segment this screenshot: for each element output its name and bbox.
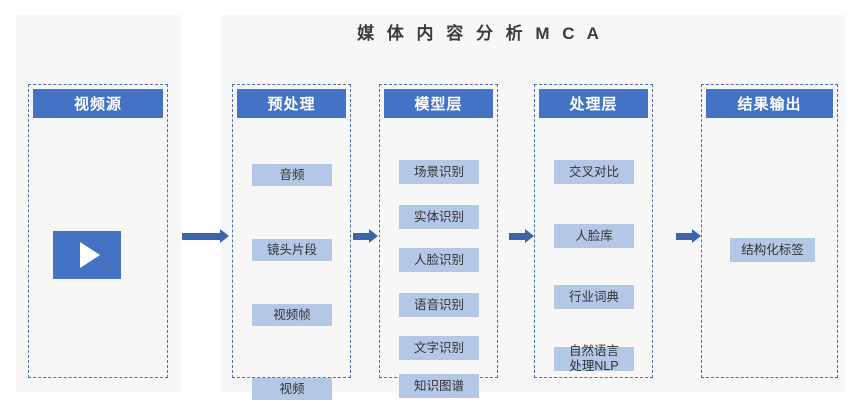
- play-button-icon[interactable]: [53, 231, 121, 279]
- stage-process-layer[interactable]: 处理层 交叉对比 人脸库 行业词典 自然语言 处理NLP: [534, 84, 653, 378]
- arrow-shaft: [509, 233, 525, 240]
- arrow-process-to-output: [676, 229, 701, 243]
- stage-body-process-layer: 交叉对比 人脸库 行业词典 自然语言 处理NLP: [535, 119, 652, 377]
- arrow-head: [369, 229, 378, 243]
- list-item[interactable]: 视频: [252, 378, 332, 400]
- page-title: 媒 体 内 容 分 析 M C A: [330, 19, 630, 44]
- stage-header-video-source: 视频源: [33, 89, 163, 118]
- list-item[interactable]: 结构化标签: [730, 238, 815, 262]
- list-item[interactable]: 语音识别: [399, 293, 479, 317]
- arrow-source-to-preprocess: [182, 229, 229, 243]
- stage-body-model-layer: 场景识别 实体识别 人脸识别 语音识别 文字识别 知识图谱: [380, 119, 497, 377]
- list-item[interactable]: 文字识别: [399, 336, 479, 360]
- stage-body-result-output: 结构化标签: [702, 119, 837, 377]
- list-item[interactable]: 自然语言 处理NLP: [554, 347, 634, 371]
- list-item[interactable]: 场景识别: [399, 160, 479, 184]
- list-item[interactable]: 实体识别: [399, 205, 479, 229]
- list-item[interactable]: 行业词典: [554, 285, 634, 309]
- arrow-preprocess-to-model: [353, 229, 378, 243]
- stage-body-video-source: [29, 119, 167, 377]
- arrow-head: [220, 229, 229, 243]
- arrow-shaft: [353, 233, 369, 240]
- stage-header-process-layer: 处理层: [539, 89, 648, 118]
- arrow-shaft: [182, 233, 220, 240]
- arrow-shaft: [676, 233, 692, 240]
- list-item[interactable]: 人脸识别: [399, 248, 479, 272]
- arrow-head: [692, 229, 701, 243]
- stage-header-preprocess: 预处理: [237, 89, 346, 118]
- stage-header-model-layer: 模型层: [384, 89, 493, 118]
- stage-body-preprocess: 音频 镜头片段 视频帧 视频: [233, 119, 350, 377]
- stage-preprocess[interactable]: 预处理 音频 镜头片段 视频帧 视频: [232, 84, 351, 378]
- list-item[interactable]: 镜头片段: [252, 239, 332, 261]
- stage-video-source[interactable]: 视频源: [28, 84, 168, 378]
- stage-model-layer[interactable]: 模型层 场景识别 实体识别 人脸识别 语音识别 文字识别 知识图谱: [379, 84, 498, 378]
- list-item[interactable]: 视频帧: [252, 304, 332, 326]
- list-item[interactable]: 交叉对比: [554, 160, 634, 184]
- stage-header-result-output: 结果输出: [706, 89, 833, 118]
- list-item[interactable]: 知识图谱: [399, 374, 479, 398]
- list-item[interactable]: 人脸库: [554, 224, 634, 248]
- list-item[interactable]: 音频: [252, 164, 332, 186]
- stage-result-output[interactable]: 结果输出 结构化标签: [701, 84, 838, 378]
- arrow-model-to-process: [509, 229, 534, 243]
- play-triangle-glyph: [80, 242, 100, 268]
- arrow-head: [525, 229, 534, 243]
